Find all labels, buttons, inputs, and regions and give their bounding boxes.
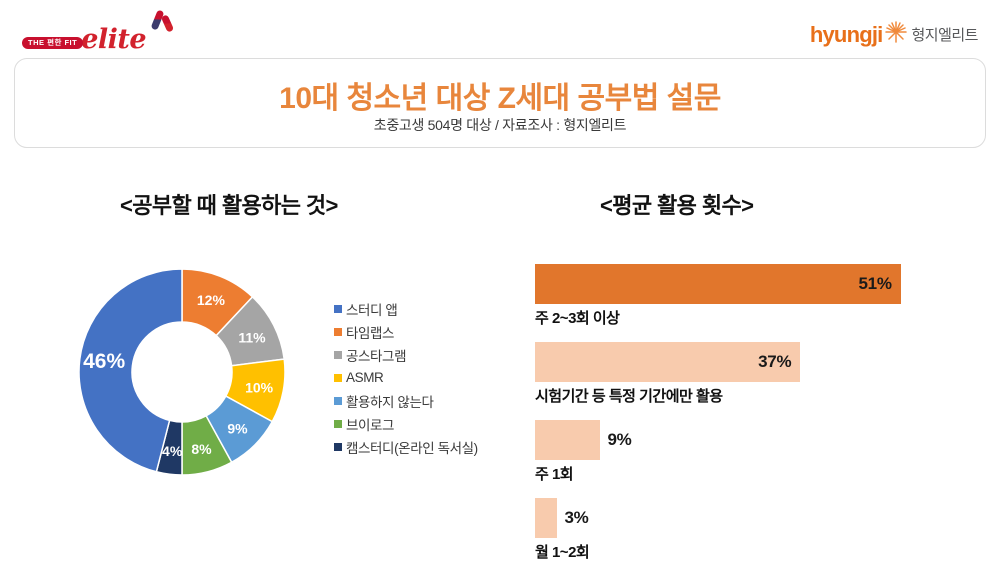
legend-swatch-icon xyxy=(334,351,342,359)
bar-group: 9%주 1회 xyxy=(535,420,935,498)
bar[interactable]: 51% xyxy=(535,264,901,304)
bar[interactable]: 37% xyxy=(535,342,800,382)
elite-tagline: THE 편한 FIT xyxy=(22,37,83,50)
donut-slice-value: 9% xyxy=(227,421,248,437)
starburst-icon xyxy=(884,20,908,44)
bar-category-label: 주 2~3회 이상 xyxy=(535,304,935,342)
hyungji-korean-name: 형지엘리트 xyxy=(911,28,978,43)
legend-item-label: 타임랩스 xyxy=(346,322,394,342)
legend-item-label: ASMR xyxy=(346,370,383,385)
bar[interactable] xyxy=(535,420,600,460)
legend-swatch-icon xyxy=(334,328,342,336)
legend-item[interactable]: 캠스터디(온라인 독서실) xyxy=(334,435,509,458)
donut-section-heading: <공부할 때 활용하는 것> xyxy=(120,188,338,220)
legend-swatch-icon xyxy=(334,420,342,428)
donut-chart: 12%11%10%9%8%4%46% xyxy=(60,255,310,490)
legend-swatch-icon xyxy=(334,443,342,451)
page-title: 10대 청소년 대상 Z세대 공부법 설문 xyxy=(15,73,985,117)
legend-swatch-icon xyxy=(334,374,342,382)
legend-item-label: 활용하지 않는다 xyxy=(346,391,434,411)
elite-pin-icon xyxy=(148,20,178,52)
page-subtitle: 초중고생 504명 대상 / 자료조사 : 형지엘리트 xyxy=(15,115,985,135)
legend-item[interactable]: 타임랩스 xyxy=(334,320,509,343)
bar-group: 51%주 2~3회 이상 xyxy=(535,264,935,342)
legend-swatch-icon xyxy=(334,305,342,313)
legend-item-label: 공스타그램 xyxy=(346,345,406,365)
bar-value-label: 37% xyxy=(758,352,791,372)
bar-category-label: 시험기간 등 특정 기간에만 활용 xyxy=(535,382,935,420)
bar-group: 3%월 1~2회 xyxy=(535,498,935,576)
legend-item[interactable]: 공스타그램 xyxy=(334,343,509,366)
bar-category-label: 주 1회 xyxy=(535,460,935,498)
bar-chart: 51%주 2~3회 이상37%시험기간 등 특정 기간에만 활용9%주 1회3%… xyxy=(535,264,935,576)
hyungji-logo: hyungji 형지엘리트 xyxy=(810,20,978,50)
bar-group: 37%시험기간 등 특정 기간에만 활용 xyxy=(535,342,935,420)
donut-slice-value: 12% xyxy=(197,292,226,308)
donut-slice-value: 11% xyxy=(238,329,266,345)
legend-item[interactable]: 스터디 앱 xyxy=(334,297,509,320)
logo-bar: THE 편한 FIT elite hyungji xyxy=(0,0,1000,58)
header-card: 10대 청소년 대상 Z세대 공부법 설문 초중고생 504명 대상 / 자료조… xyxy=(14,58,986,148)
bar-value-label: 51% xyxy=(859,274,892,294)
donut-slice-value: 8% xyxy=(191,441,212,457)
bar-value-label: 3% xyxy=(565,508,589,528)
donut-legend: 스터디 앱타임랩스공스타그램ASMR활용하지 않는다브이로그캠스터디(온라인 독… xyxy=(334,297,509,458)
legend-item[interactable]: 활용하지 않는다 xyxy=(334,389,509,412)
donut-chart-svg: 12%11%10%9%8%4%46% xyxy=(60,255,310,490)
elite-wordmark: elite xyxy=(81,29,146,52)
legend-item[interactable]: 브이로그 xyxy=(334,412,509,435)
elite-logo: THE 편한 FIT elite xyxy=(22,18,178,52)
legend-item-label: 캠스터디(온라인 독서실) xyxy=(346,437,478,457)
donut-slice-value: 46% xyxy=(83,350,125,373)
bar[interactable] xyxy=(535,498,557,538)
hyungji-wordmark: hyungji xyxy=(810,24,883,46)
bar-value-label: 9% xyxy=(608,430,632,450)
donut-slice-value: 10% xyxy=(245,380,274,396)
bar-category-label: 월 1~2회 xyxy=(535,538,935,576)
legend-item-label: 스터디 앱 xyxy=(346,299,397,319)
bar-section-heading: <평균 활용 횟수> xyxy=(600,188,753,220)
legend-swatch-icon xyxy=(334,397,342,405)
legend-item[interactable]: ASMR xyxy=(334,366,509,389)
legend-item-label: 브이로그 xyxy=(346,414,394,434)
donut-slice-value: 4% xyxy=(162,443,183,459)
